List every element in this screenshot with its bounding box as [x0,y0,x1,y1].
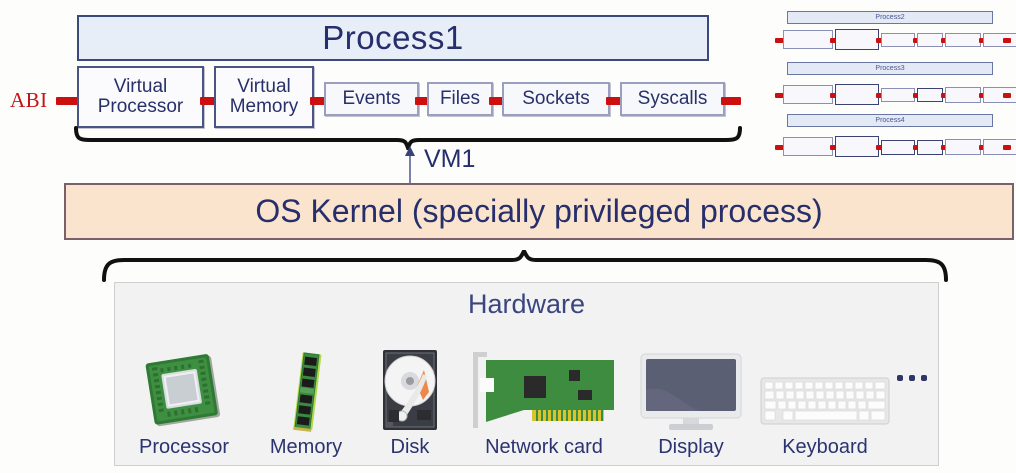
vm1-label: VM1 [424,145,475,174]
abi-label: ABI [10,88,48,113]
hardware-title: Hardware [115,289,938,320]
vm1-arrow-icon [400,144,420,188]
process3-box-3 [881,88,915,102]
hardware-item-processor[interactable]: Processor [119,350,249,459]
process2-connector [1003,38,1011,43]
hardware-item-memory[interactable]: Memory [251,350,361,459]
process4-group[interactable]: Process4 [775,110,1010,158]
abi-box-files[interactable]: Files [427,82,493,116]
abi-box-line1: Events [342,89,400,109]
abi-box-line1: Virtual [237,77,291,97]
hardware-item-network-card[interactable]: Network card [459,350,629,459]
hardware-brace [100,250,950,282]
process3-box-2 [835,84,879,105]
abi-box-events[interactable]: Events [324,82,419,116]
process4-box-5 [945,139,981,155]
network-card-icon [466,350,622,432]
keyboard-icon [759,352,891,432]
abi-connector-6 [721,97,741,105]
process4-connector [1003,145,1011,150]
os-kernel-box[interactable]: OS Kernel (specially privileged process) [64,183,1014,240]
monitor-icon [639,350,743,432]
process4-box-4 [917,140,943,155]
ram-stick-icon [271,350,341,432]
hardware-item-display[interactable]: Display [629,350,753,459]
process4-header: Process4 [787,114,993,127]
hardware-item-keyboard[interactable]: Keyboard [755,352,895,459]
process3-box-1 [783,85,833,104]
process3-group[interactable]: Process3 [775,57,1010,105]
process4-box-2 [835,136,879,157]
process2-box-6 [983,33,1016,47]
process1-header: Process1 [77,15,709,61]
diagram-canvas: Process1 ABI Virtual Processor Virtual M… [0,0,1016,473]
hardware-item-label: Disk [355,436,465,459]
hardware-item-label: Keyboard [755,436,895,459]
process2-box-5 [945,33,981,47]
process2-box-3 [881,33,915,47]
hardware-more-ellipsis [897,375,927,381]
process2-box-1 [783,30,833,49]
process2-box-2 [835,29,879,50]
process3-box-5 [945,87,981,103]
abi-box-line2: Processor [98,97,184,117]
abi-box-sockets[interactable]: Sockets [502,82,610,116]
process2-box-4 [917,33,943,47]
process2-header: Process2 [787,11,993,24]
process4-box-1 [783,137,833,156]
abi-box-line2: Memory [230,97,299,117]
process3-header: Process3 [787,62,993,75]
abi-box-line1: Sockets [522,89,590,109]
process2-group[interactable]: Process2 [775,8,1010,56]
hardware-item-label: Memory [251,436,361,459]
hardware-item-disk[interactable]: Disk [355,348,465,459]
process3-box-6 [983,87,1016,103]
hardware-panel: Hardware [114,282,939,466]
hardware-item-label: Network card [459,436,629,459]
process4-box-3 [881,140,915,155]
hardware-item-label: Display [629,436,753,459]
cpu-chip-icon [140,350,228,432]
process3-box-4 [917,88,943,102]
abi-box-virtual-memory[interactable]: Virtual Memory [214,66,314,128]
abi-box-line1: Files [440,89,480,109]
abi-box-line1: Virtual [114,77,168,97]
abi-box-line1: Syscalls [638,89,708,109]
hard-disk-icon [377,348,443,432]
hardware-item-label: Processor [119,436,249,459]
abi-box-virtual-processor[interactable]: Virtual Processor [77,66,204,128]
process4-box-6 [983,139,1016,155]
abi-box-syscalls[interactable]: Syscalls [620,82,725,116]
process3-connector [1003,93,1011,98]
